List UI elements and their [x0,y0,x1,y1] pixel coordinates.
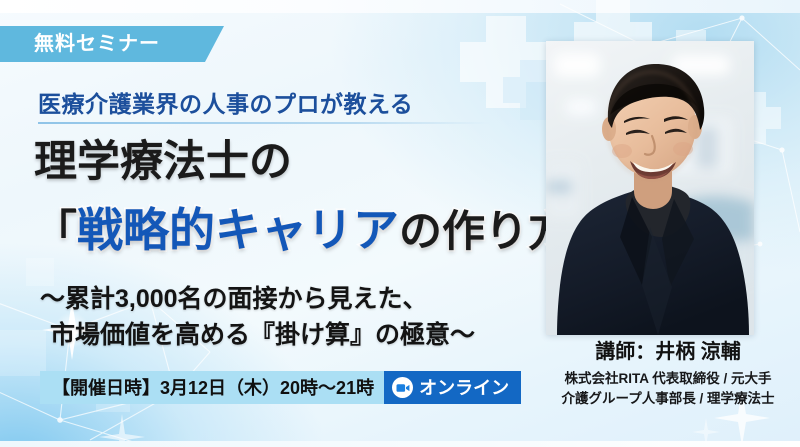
kicker-underline [38,122,490,124]
title-highlight: 戦略的キャリア [77,194,399,260]
speaker-photo [546,41,754,335]
speaker-info: 講師：井柄 涼輔 株式会社RITA 代表取締役 / 元大手 介護グループ人事部長… [540,340,796,408]
online-label: オンライン [419,379,509,397]
title-line-1: 理学療法士の [34,140,614,186]
date-text: 【開催日時】3月12日（木）20時〜21時 [52,379,374,397]
copy-block: 医療介護業界の人事のプロが教える 理学療法士の 「 戦略的キャリア の作り方」 … [0,0,556,447]
lead-line-2: 市場価値を高める『掛け算』の極意〜 [40,318,475,354]
lead-block: 〜累計3,000名の面接から見えた、 市場価値を高める『掛け算』の極意〜 [40,282,475,353]
kicker-block: 医療介護業界の人事のプロが教える [38,92,490,124]
video-camera-icon [392,377,413,398]
online-segment: オンライン [384,371,521,404]
speaker-role-line-1: 株式会社RITA 代表取締役 / 元大手 [540,369,796,389]
speaker-name: 講師：井柄 涼輔 [540,340,796,364]
main-title: 理学療法士の 「 戦略的キャリア の作り方」 [34,140,614,260]
title-line-2: 「 戦略的キャリア の作り方」 [34,194,614,260]
title-open-bracket: 「 [34,197,77,259]
speaker-role: 株式会社RITA 代表取締役 / 元大手 介護グループ人事部長 / 理学療法士 [540,369,796,408]
date-segment: 【開催日時】3月12日（木）20時〜21時 [40,371,384,404]
seminar-poster: 無料セミナー 医療介護業界の人事のプロが教える 理学療法士の 「 戦略的キャリア… [0,0,800,447]
speaker-role-line-2: 介護グループ人事部長 / 理学療法士 [540,389,796,409]
kicker-text: 医療介護業界の人事のプロが教える [38,92,490,117]
date-bar: 【開催日時】3月12日（木）20時〜21時 オンライン [40,371,521,404]
lead-line-1: 〜累計3,000名の面接から見えた、 [40,282,475,318]
